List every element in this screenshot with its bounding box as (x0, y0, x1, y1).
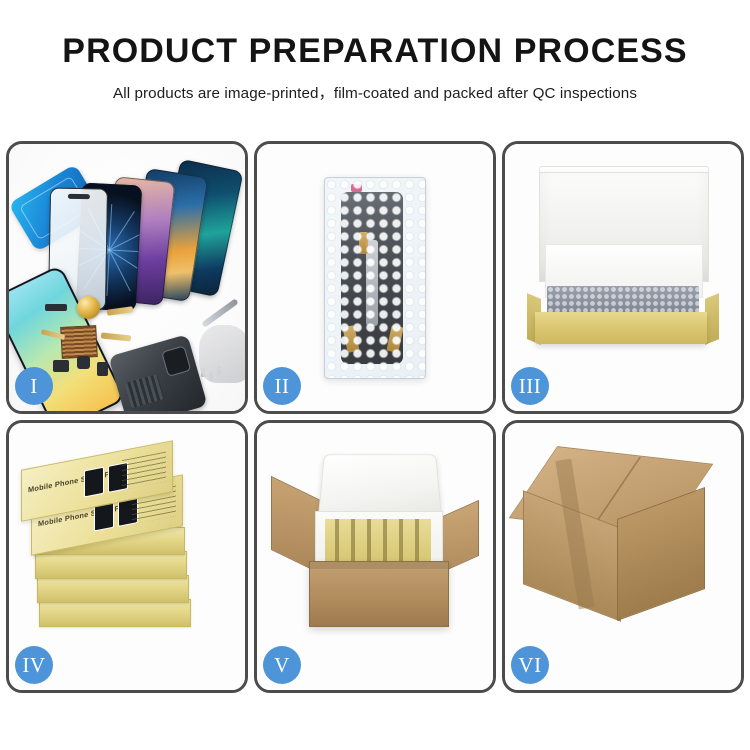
process-step-panel-4[interactable]: Mobile Phone Spare Parts Mobile Phone Sp… (6, 420, 248, 693)
phone-back-housing (108, 334, 207, 411)
step-badge-5: V (263, 646, 301, 684)
tweezer-tool (201, 298, 239, 328)
process-step-grid: I II III (6, 141, 744, 693)
copper-mesh-part (60, 325, 98, 359)
foam-lid (318, 454, 443, 519)
packed-yellow-boxes (325, 519, 431, 565)
process-step-panel-3[interactable]: III (502, 141, 744, 414)
step-badge-2: II (263, 367, 301, 405)
box-spec-lines-1 (122, 452, 166, 491)
stacked-box-4 (35, 551, 187, 579)
bubble-texture (325, 178, 425, 378)
process-step-panel-2[interactable]: II (254, 141, 496, 414)
page-header: PRODUCT PREPARATION PROCESS All products… (0, 0, 750, 103)
stacked-box-6 (39, 599, 191, 627)
chip-part-2 (53, 360, 69, 372)
chip-part-3 (77, 356, 90, 369)
hand-silhouette (199, 325, 245, 383)
chip-part-4 (97, 362, 108, 376)
process-step-panel-1[interactable]: I (6, 141, 248, 414)
step-badge-3: III (511, 367, 549, 405)
page-title: PRODUCT PREPARATION PROCESS (0, 34, 750, 70)
step-badge-1: I (15, 367, 53, 405)
bubble-wrap-bag (324, 177, 426, 379)
stacked-box-5 (37, 575, 189, 603)
box-yellow-front (535, 312, 707, 344)
carton-front-panel (309, 561, 449, 627)
step-badge-4: IV (15, 646, 53, 684)
box-screen-image-1a (84, 467, 104, 498)
box-stack: Mobile Phone Spare Parts Mobile Phone Sp… (15, 451, 235, 631)
step-badge-6: VI (511, 646, 549, 684)
box-right-side (705, 293, 719, 345)
flex-cable-3 (101, 332, 131, 341)
process-step-panel-6[interactable]: VI (502, 420, 744, 693)
process-step-panel-5[interactable]: V (254, 420, 496, 693)
speaker-coil-part (77, 296, 100, 319)
chip-part-1 (45, 304, 67, 311)
page-subtitle: All products are image-printed，film-coat… (0, 81, 750, 103)
